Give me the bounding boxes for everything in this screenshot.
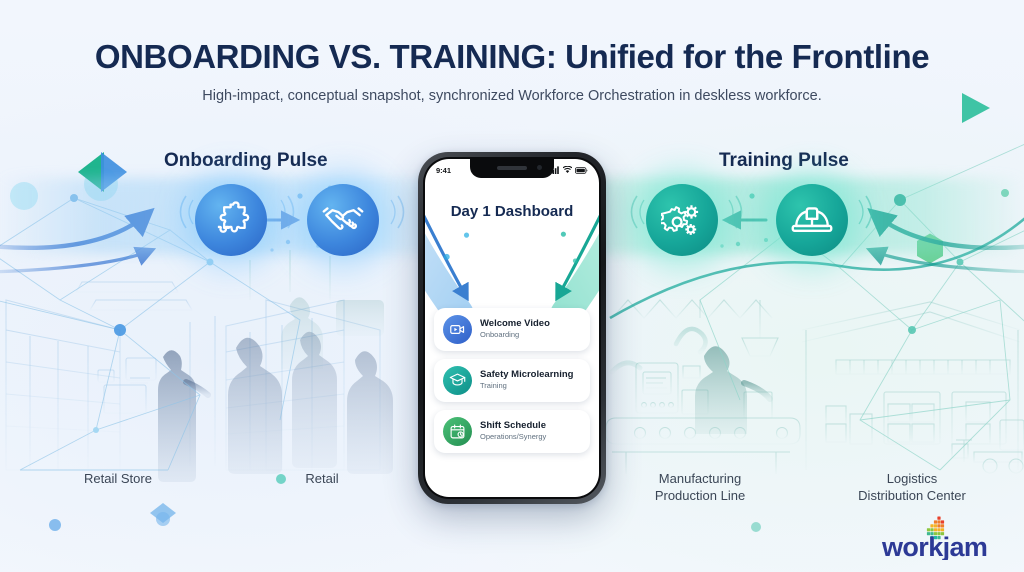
puzzle-node-disc — [195, 184, 267, 256]
status-bar: 9:41 — [425, 162, 599, 178]
scene-label-manufacturing: Manufacturing Production Line — [628, 470, 772, 504]
wifi-icon — [563, 166, 572, 174]
gears-node-disc — [646, 184, 718, 256]
battery-icon — [575, 167, 588, 174]
gears-node — [646, 184, 718, 256]
puzzle-node — [195, 184, 267, 256]
people-group-silhouette — [228, 250, 393, 474]
workjam-logo: workjam — [880, 516, 1000, 560]
puzzle-icon — [210, 199, 252, 241]
card-subtitle: Training — [480, 382, 573, 390]
graduation-cap-icon — [443, 366, 472, 395]
scene-label-retail-store: Retail Store — [47, 470, 189, 487]
manufacturing-worker-silhouette — [695, 346, 747, 434]
card-welcome-video[interactable]: Welcome Video Onboarding — [434, 308, 590, 351]
page-subtitle: High-impact, conceptual snapshot, synchr… — [0, 88, 1024, 104]
card-shift-schedule[interactable]: Shift Schedule Operations/Synergy — [434, 410, 590, 453]
handshake-node-disc — [307, 184, 379, 256]
card-text: Shift Schedule Operations/Synergy — [480, 421, 546, 441]
handshake-node — [307, 184, 379, 256]
card-text: Safety Microlearning Training — [480, 370, 573, 390]
card-text: Welcome Video Onboarding — [480, 319, 550, 339]
page-title: ONBOARDING VS. TRAINING: Unified for the… — [0, 38, 1024, 76]
hardhat-node — [776, 184, 848, 256]
video-camera-icon — [443, 315, 472, 344]
signal-icon — [550, 166, 560, 174]
gears-icon — [661, 199, 703, 241]
status-time: 9:41 — [436, 166, 451, 175]
infographic-canvas: ONBOARDING VS. TRAINING: Unified for the… — [0, 0, 1024, 572]
handshake-icon — [322, 199, 364, 241]
workjam-logo-mark: workjam — [880, 516, 1000, 560]
hardhat-node-disc — [776, 184, 848, 256]
card-subtitle: Operations/Synergy — [480, 433, 546, 441]
card-subtitle: Onboarding — [480, 331, 550, 339]
card-safety-microlearning[interactable]: Safety Microlearning Training — [434, 359, 590, 402]
calendar-clock-icon — [443, 417, 472, 446]
status-indicators — [550, 166, 588, 174]
phone-mockup: 9:41 — [418, 152, 606, 504]
phone-screen: 9:41 — [425, 159, 599, 497]
scene-label-retail: Retail — [256, 470, 388, 487]
hardhat-icon — [791, 199, 833, 241]
card-title: Safety Microlearning — [480, 370, 573, 381]
scene-label-logistics: Logistics Distribution Center — [836, 470, 988, 504]
header: ONBOARDING VS. TRAINING: Unified for the… — [0, 38, 1024, 104]
dashboard-title: Day 1 Dashboard — [425, 203, 599, 220]
card-title: Shift Schedule — [480, 421, 546, 432]
dashboard-card-list: Welcome Video Onboarding — [434, 308, 590, 453]
phone-bezel: 9:41 — [423, 157, 601, 499]
logo-wordmark: workjam — [881, 532, 987, 560]
card-title: Welcome Video — [480, 319, 550, 330]
